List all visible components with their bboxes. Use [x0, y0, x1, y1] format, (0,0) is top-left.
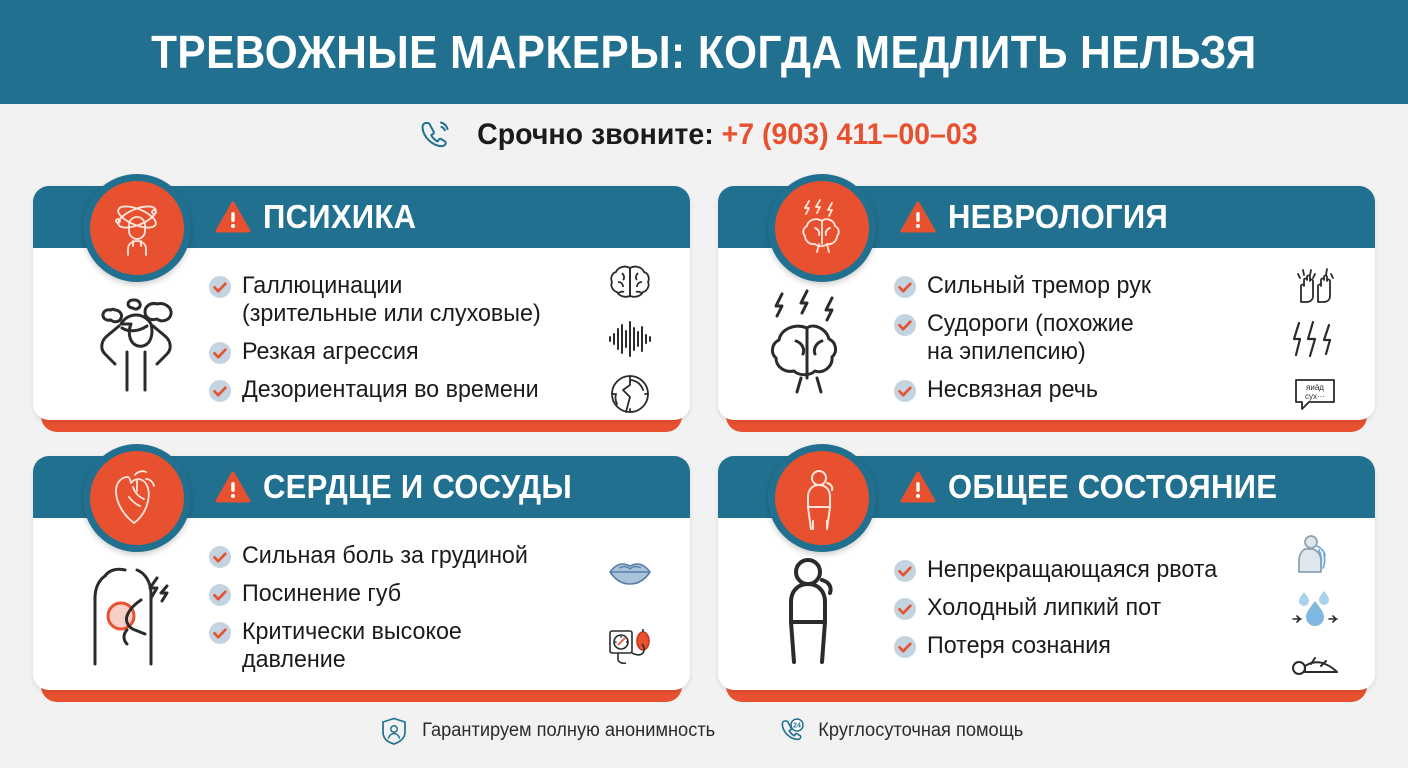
card-body: НЕВРОЛОГИЯ [718, 186, 1375, 420]
list-item-label: Судороги (похожие на эпилепсию) [927, 310, 1134, 366]
cards-grid: ПСИХИКА [33, 186, 1375, 702]
sound-wave-icon [606, 319, 654, 359]
card-serdce-i-sosudy: СЕРДЦЕ И СОСУДЫ [33, 456, 690, 702]
check-icon [209, 622, 231, 644]
list-item: Судороги (похожие на эпилепсию) [894, 310, 1265, 366]
badge-person-unwell-icon [768, 444, 876, 552]
footer-item-anonymity: Гарантируем полную анонимность [381, 717, 721, 745]
check-icon [894, 598, 916, 620]
list-item-label: Несвязная речь [927, 376, 1098, 404]
list-item-label: Посинение губ [242, 580, 401, 608]
blue-lips-icon [606, 552, 654, 592]
page-header-band: ТРЕВОЖНЫЕ МАРКЕРЫ: КОГДА МЕДЛИТЬ НЕЛЬЗЯ [0, 0, 1408, 104]
footer-item-label: Гарантируем полную анонимность [422, 720, 715, 742]
check-icon [894, 636, 916, 658]
check-icon [209, 276, 231, 298]
phone-number[interactable]: +7 (903) 411–00–03 [721, 118, 977, 151]
urgent-call-text: Срочно звоните: +7 (903) 411–00–03 [477, 118, 977, 152]
card-bullet-list: Непрекращающаяся рвота Холодный липкий п… [894, 534, 1265, 682]
person-holding-head-icon [75, 286, 197, 396]
list-item-label: Дезориентация во времени [242, 376, 539, 404]
list-item-label: Непрекращающаяся рвота [927, 556, 1217, 584]
card-title: ОБЩЕЕ СОСТОЯНИЕ [948, 468, 1277, 506]
card-body: СЕРДЦЕ И СОСУДЫ [33, 456, 690, 690]
check-icon [894, 380, 916, 402]
list-item: Резкая агрессия [209, 338, 580, 366]
card-side-icons [590, 264, 670, 414]
footer-item-label: Круглосуточная помощь [818, 720, 1023, 742]
warning-triangle-icon [900, 201, 936, 234]
list-item-label: Сильная боль за грудиной [242, 542, 528, 570]
card-body: ПСИХИКА [33, 186, 690, 420]
list-item: Сильная боль за грудиной [209, 542, 580, 570]
svg-text:яиäд: яиäд [1306, 383, 1324, 392]
check-icon [894, 560, 916, 582]
list-item-label: Сильный тремор рук [927, 272, 1151, 300]
phone-24h-icon: 24 [779, 717, 805, 745]
list-item-label: Галлюцинации (зрительные или слуховые) [242, 272, 541, 328]
card-bullet-list: Сильный тремор рук Судороги (похожие на … [894, 264, 1265, 412]
lightning-bolts-icon [1291, 319, 1339, 359]
urgent-call-label: Срочно звоните: [477, 118, 714, 151]
list-item: Холодный липкий пот [894, 594, 1265, 622]
badge-dizzy-head-icon [83, 174, 191, 282]
check-icon [894, 314, 916, 336]
card-bullet-list: Галлюцинации (зрительные или слуховые) Р… [209, 264, 580, 412]
card-psychika: ПСИХИКА [33, 186, 690, 432]
check-icon [209, 584, 231, 606]
card-side-icons [1275, 534, 1355, 684]
list-item: Посинение губ [209, 580, 580, 608]
blood-pressure-monitor-icon [606, 627, 654, 667]
list-item-label: Критически высокое давление [242, 618, 570, 674]
warning-triangle-icon [215, 471, 251, 504]
card-obshchee-sostoyanie: ОБЩЕЕ СОСТОЯНИЕ [718, 456, 1375, 702]
svg-text:сух···: сух··· [1305, 392, 1325, 401]
lying-person-icon [1291, 644, 1339, 684]
list-item: Галлюцинации (зрительные или слуховые) [209, 272, 580, 328]
card-title: НЕВРОЛОГИЯ [948, 198, 1168, 236]
vomiting-person-icon [1291, 534, 1339, 574]
card-title: ПСИХИКА [263, 198, 416, 236]
list-item-label: Резкая агрессия [242, 338, 419, 366]
garbled-speech-bubble-icon: яиäд сух··· [1291, 374, 1339, 414]
check-icon [894, 276, 916, 298]
warning-triangle-icon [215, 201, 251, 234]
card-title: СЕРДЦЕ И СОСУДЫ [263, 468, 572, 506]
list-item: Сильный тремор рук [894, 272, 1265, 300]
shield-person-icon [381, 717, 407, 745]
list-item: Несвязная речь [894, 376, 1265, 404]
urgent-call-callout: Срочно звоните: +7 (903) 411–00–03 [0, 104, 1408, 166]
check-icon [209, 546, 231, 568]
phone-ringing-icon [418, 118, 452, 152]
card-side-icons: яиäд сух··· [1275, 264, 1355, 414]
shaking-hands-icon [1291, 264, 1339, 304]
brain-top-icon [606, 264, 654, 304]
card-body: ОБЩЕЕ СОСТОЯНИЕ [718, 456, 1375, 690]
list-item-label: Холодный липкий пот [927, 594, 1161, 622]
sweat-drops-icon [1291, 589, 1339, 629]
check-icon [209, 342, 231, 364]
list-item: Дезориентация во времени [209, 376, 580, 404]
card-bullet-list: Сильная боль за грудиной Посинение губ К… [209, 534, 580, 682]
list-item: Потеря сознания [894, 632, 1265, 660]
list-item: Критически высокое давление [209, 618, 580, 674]
broken-clock-icon [606, 374, 654, 414]
warning-triangle-icon [900, 471, 936, 504]
badge-heart-icon [83, 444, 191, 552]
footer-item-24h: 24 Круглосуточная помощь [779, 717, 1027, 745]
footer-trust-bar: Гарантируем полную анонимность 24 Кругло… [0, 714, 1408, 748]
brain-lightning-illustration-icon [760, 286, 882, 396]
chest-pain-person-icon [75, 556, 197, 666]
card-side-icons [590, 534, 670, 684]
check-icon [209, 380, 231, 402]
badge-brain-lightning-icon [768, 174, 876, 282]
list-item-label: Потеря сознания [927, 632, 1111, 660]
svg-text:24: 24 [793, 723, 801, 730]
standing-person-icon [760, 556, 882, 666]
list-item: Непрекращающаяся рвота [894, 556, 1265, 584]
card-nevrologiya: НЕВРОЛОГИЯ [718, 186, 1375, 432]
page-title: ТРЕВОЖНЫЕ МАРКЕРЫ: КОГДА МЕДЛИТЬ НЕЛЬЗЯ [151, 25, 1257, 79]
